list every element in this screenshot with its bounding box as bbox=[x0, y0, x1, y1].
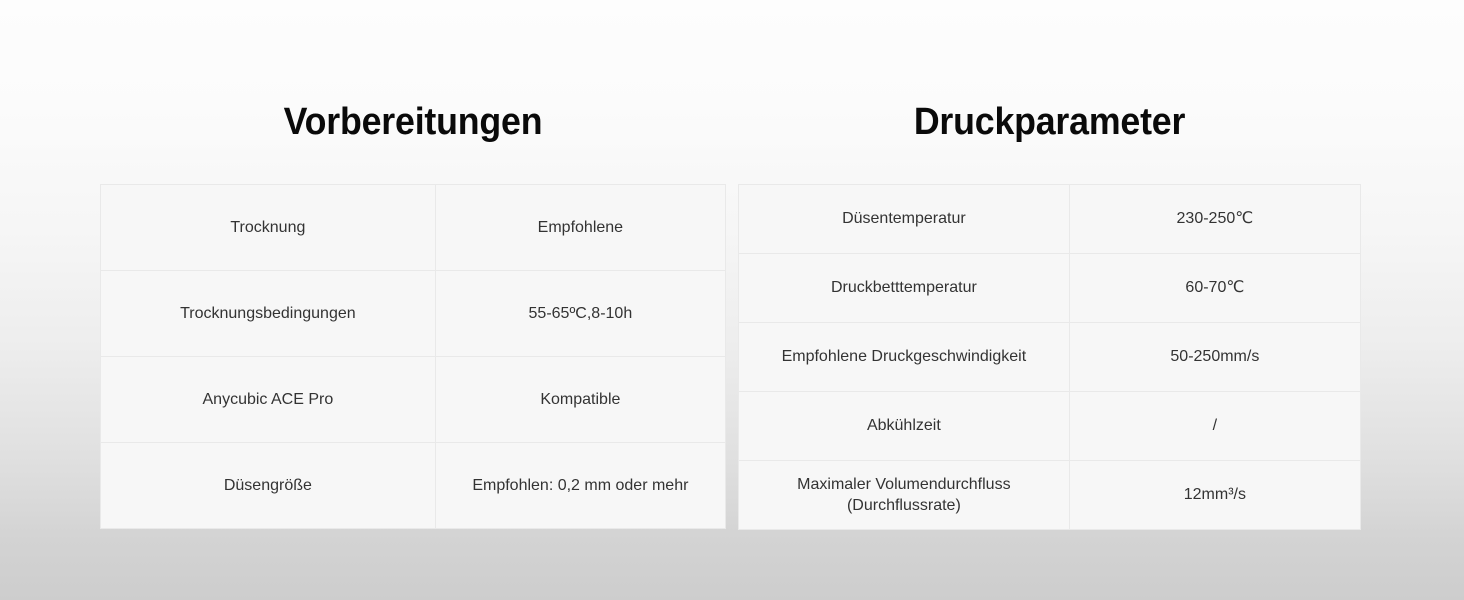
row-key: Anycubic ACE Pro bbox=[101, 357, 436, 443]
row-key: Abkühlzeit bbox=[739, 392, 1070, 461]
row-value: / bbox=[1069, 392, 1360, 461]
row-key: Druckbetttemperatur bbox=[739, 254, 1070, 323]
row-value: Empfohlene bbox=[435, 185, 725, 271]
section-title-preparations: Vorbereitungen bbox=[119, 103, 707, 141]
print-parameters-table: Düsentemperatur 230-250℃ Druckbetttemper… bbox=[738, 184, 1361, 530]
row-value: 60-70℃ bbox=[1069, 254, 1360, 323]
row-key: Empfohlene Druckgeschwindigkeit bbox=[739, 323, 1070, 392]
table-row: Trocknung Empfohlene bbox=[101, 185, 726, 271]
row-value: Empfohlen: 0,2 mm oder mehr bbox=[435, 443, 725, 529]
row-value: 55-65ºC,8-10h bbox=[435, 271, 725, 357]
table-row: Anycubic ACE Pro Kompatible bbox=[101, 357, 726, 443]
row-key: Düsengröße bbox=[101, 443, 436, 529]
table-row: Maximaler Volumendurchfluss (Durchflussr… bbox=[739, 461, 1361, 530]
spec-sheet: Vorbereitungen Trocknung Empfohlene Troc… bbox=[0, 0, 1464, 600]
row-value: 12mm³/s bbox=[1069, 461, 1360, 530]
row-key: Düsentemperatur bbox=[739, 185, 1070, 254]
table-row: Düsentemperatur 230-250℃ bbox=[739, 185, 1361, 254]
preparations-table: Trocknung Empfohlene Trocknungsbedingung… bbox=[100, 184, 726, 529]
table-row: Düsengröße Empfohlen: 0,2 mm oder mehr bbox=[101, 443, 726, 529]
row-value: 50-250mm/s bbox=[1069, 323, 1360, 392]
table-row: Druckbetttemperatur 60-70℃ bbox=[739, 254, 1361, 323]
row-value: 230-250℃ bbox=[1069, 185, 1360, 254]
table-row: Abkühlzeit / bbox=[739, 392, 1361, 461]
row-value: Kompatible bbox=[435, 357, 725, 443]
row-key: Maximaler Volumendurchfluss (Durchflussr… bbox=[739, 461, 1070, 530]
row-key: Trocknungsbedingungen bbox=[101, 271, 436, 357]
table-row: Empfohlene Druckgeschwindigkeit 50-250mm… bbox=[739, 323, 1361, 392]
section-title-print-parameters: Druckparameter bbox=[757, 103, 1343, 141]
table-row: Trocknungsbedingungen 55-65ºC,8-10h bbox=[101, 271, 726, 357]
row-key: Trocknung bbox=[101, 185, 436, 271]
